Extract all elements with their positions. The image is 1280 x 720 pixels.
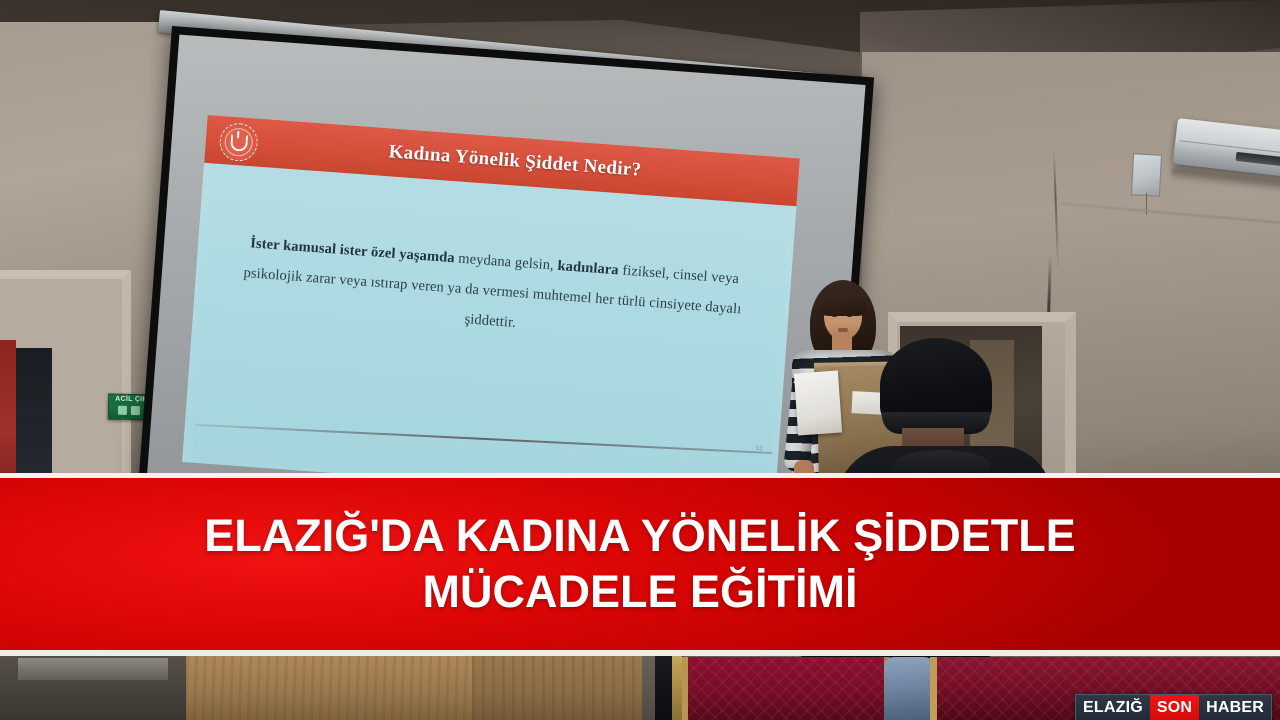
watermark-logo: ELAZIĞ SON HABER bbox=[1075, 694, 1272, 720]
slide-body-text-2: fiziksel, bbox=[618, 262, 670, 282]
wood-panel bbox=[186, 655, 472, 720]
presenter-hair-front bbox=[820, 290, 866, 316]
slide-body-bold-2: kadınlara bbox=[557, 258, 619, 278]
wood-panel-secondary bbox=[472, 655, 642, 720]
slide-divider-rule bbox=[195, 424, 772, 454]
chair-red-1 bbox=[682, 657, 890, 720]
exit-arrow-icon bbox=[130, 406, 139, 415]
projector-screen-surface: Kadına Yönelik Şiddet Nedir? İster kamus… bbox=[147, 35, 866, 532]
projector-screen: Kadına Yönelik Şiddet Nedir? İster kamus… bbox=[138, 26, 874, 540]
turkish-ministry-emblem-icon bbox=[218, 122, 259, 163]
watermark-part-3: HABER bbox=[1199, 695, 1271, 720]
presentation-slide: Kadına Yönelik Şiddet Nedir? İster kamus… bbox=[182, 115, 800, 506]
watermark-part-2: SON bbox=[1150, 695, 1199, 720]
headline-line-1: ELAZIĞ'DA KADINA YÖNELİK ŞİDDETLE bbox=[204, 507, 1076, 565]
wall-switch-box bbox=[1131, 153, 1162, 196]
slide-page-number: 12 bbox=[755, 444, 763, 452]
slide-body-text-1: meydana gelsin, bbox=[454, 250, 558, 274]
running-man-icon bbox=[117, 406, 126, 415]
presenter-mouth bbox=[838, 328, 848, 332]
slide-body-bold-1: İster kamusal ister özel yaşamda bbox=[250, 235, 455, 266]
watermark-part-1: ELAZIĞ bbox=[1076, 695, 1150, 720]
chair-gold-frame bbox=[672, 656, 682, 720]
banner-bottom-divider bbox=[0, 650, 1280, 656]
foreground-furniture-block bbox=[18, 658, 168, 680]
lectern-papers bbox=[794, 371, 842, 436]
tulip-crescent-glyph bbox=[230, 133, 248, 151]
news-photo-screenshot: ACİL ÇIKIŞ SCREEN Kadına bbox=[0, 0, 1280, 720]
air-conditioner-vent bbox=[1236, 152, 1280, 170]
headline-line-2: MÜCADELE EĞİTİMİ bbox=[423, 563, 858, 621]
blue-scarf bbox=[884, 657, 936, 720]
news-headline-banner: ELAZIĞ'DA KADINA YÖNELİK ŞİDDETLE MÜCADE… bbox=[0, 478, 1280, 650]
